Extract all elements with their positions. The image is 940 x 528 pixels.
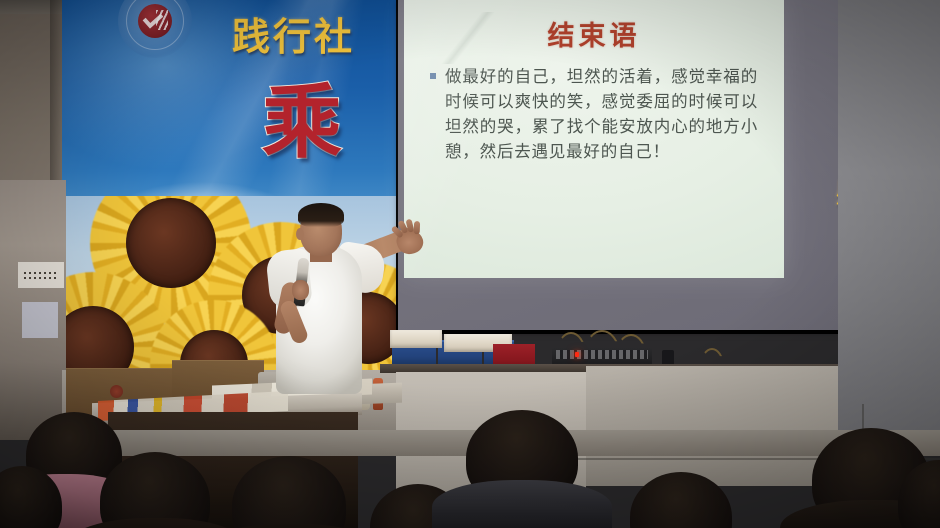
slide-bullet-text: 做最好的自己，坦然的活着，感觉幸福的时候可以爽快的笑，感觉委屈的时候可以坦然的哭… — [445, 64, 758, 164]
power-led-indicator — [575, 352, 579, 357]
stage-front-panel-right — [586, 366, 838, 486]
wall-notice-paper — [18, 262, 64, 288]
banner-left-red-text: 乘 — [262, 58, 344, 174]
slide-title: 结束语 — [404, 14, 784, 53]
banner-left-yellow-text: 践行社 — [232, 6, 355, 61]
bullet-marker-icon — [430, 73, 436, 79]
presenter-ear — [296, 228, 304, 240]
slide-bullet-row: 做最好的自己，坦然的活着，感觉幸福的时候可以爽快的笑，感觉委屈的时候可以坦然的哭… — [430, 64, 758, 164]
projected-slide: 结束语 做最好的自己，坦然的活着，感觉幸福的时候可以爽快的笑，感觉委屈的时候可以… — [404, 0, 784, 278]
tile-seam — [470, 458, 940, 460]
wall-blank-paper — [22, 302, 58, 338]
presenter-left-hand — [292, 280, 309, 300]
presentation-photo: 践行社 乘 结束语 — [0, 0, 940, 528]
paper-stack — [390, 330, 442, 348]
right-wall — [838, 0, 940, 430]
presenter-hair — [298, 203, 344, 227]
floor-strip — [62, 430, 940, 456]
tile-seam — [862, 404, 864, 528]
